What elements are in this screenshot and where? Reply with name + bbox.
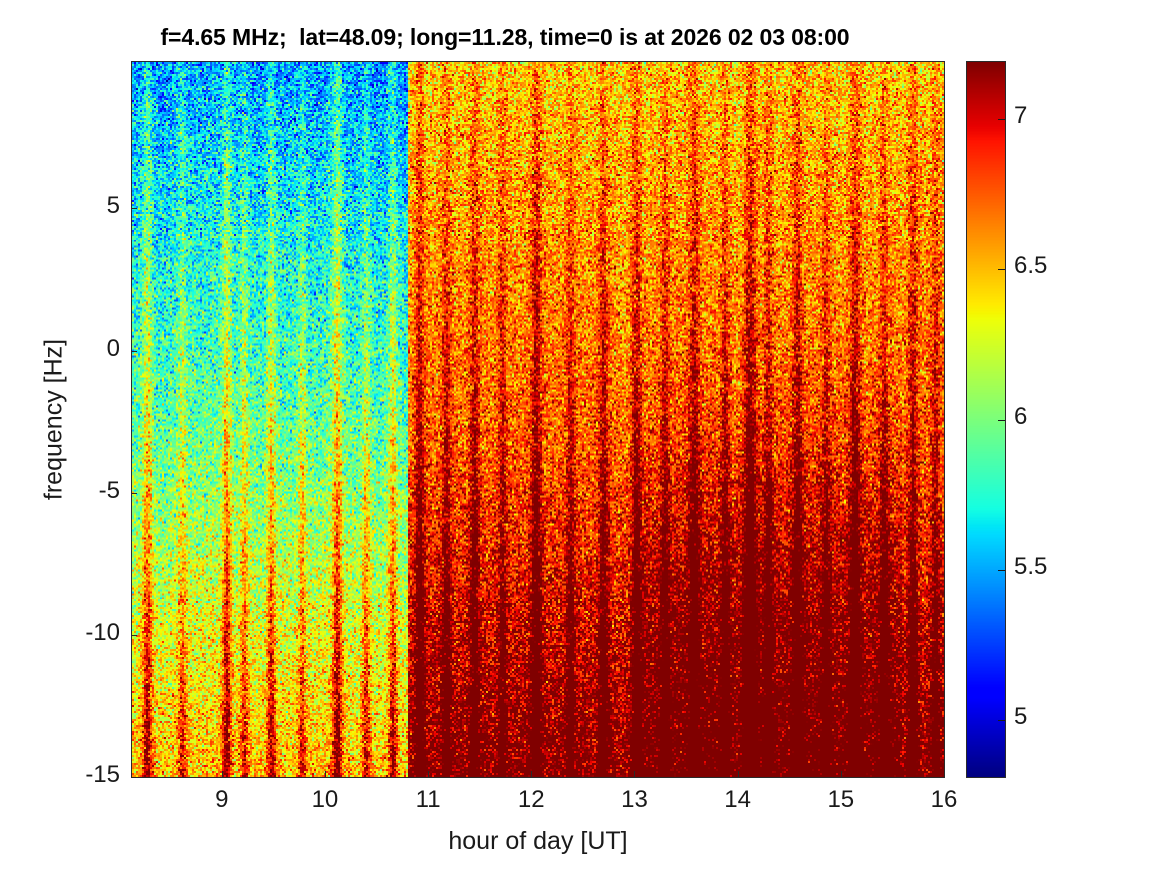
y-axis-label: frequency [Hz] [40,260,69,580]
x-tick-mark [428,771,429,777]
y-tick-label: 5 [20,192,120,220]
colorbar-tick-label: 6 [1014,403,1104,431]
x-tick-label: 15 [801,786,881,814]
y-tick-mark [131,208,137,209]
colorbar-tick-mark [998,269,1005,270]
x-tick-label: 13 [594,786,674,814]
x-tick-label: 10 [285,786,365,814]
x-tick-label: 12 [491,786,571,814]
x-tick-mark [738,771,739,777]
plot-axes-heatmap[interactable] [131,61,945,778]
colorbar-tick-label: 5.5 [1014,553,1104,581]
colorbar-tick-label: 6.5 [1014,252,1104,280]
x-tick-mark [841,771,842,777]
x-tick-mark [944,771,945,777]
colorbar-tick-mark [998,119,1005,120]
x-tick-label: 14 [698,786,778,814]
spectrogram-figure: f=4.65 MHz; lat=48.09; long=11.28, time=… [0,0,1167,875]
x-tick-mark [531,771,532,777]
y-tick-mark [131,351,137,352]
x-tick-label: 11 [388,786,468,814]
y-tick-label: -15 [20,761,120,789]
y-tick-label: -5 [20,477,120,505]
x-tick-mark [325,771,326,777]
y-tick-mark [131,493,137,494]
y-tick-label: -10 [20,619,120,647]
colorbar-tick-mark [998,420,1005,421]
x-tick-mark [222,771,223,777]
colorbar-tick-label: 7 [1014,102,1104,130]
spectrogram-image[interactable] [132,62,944,777]
y-tick-mark [131,777,137,778]
colorbar-tick-mark [998,720,1005,721]
x-tick-mark [634,771,635,777]
colorbar[interactable] [966,61,1006,778]
x-tick-label: 16 [904,786,984,814]
y-tick-mark [131,635,137,636]
x-axis-label: hour of day [UT] [131,827,945,856]
colorbar-tick-mark [998,570,1005,571]
y-tick-label: 0 [20,335,120,363]
x-tick-label: 9 [182,786,262,814]
page-title: f=4.65 MHz; lat=48.09; long=11.28, time=… [0,24,1010,51]
colorbar-tick-label: 5 [1014,703,1104,731]
